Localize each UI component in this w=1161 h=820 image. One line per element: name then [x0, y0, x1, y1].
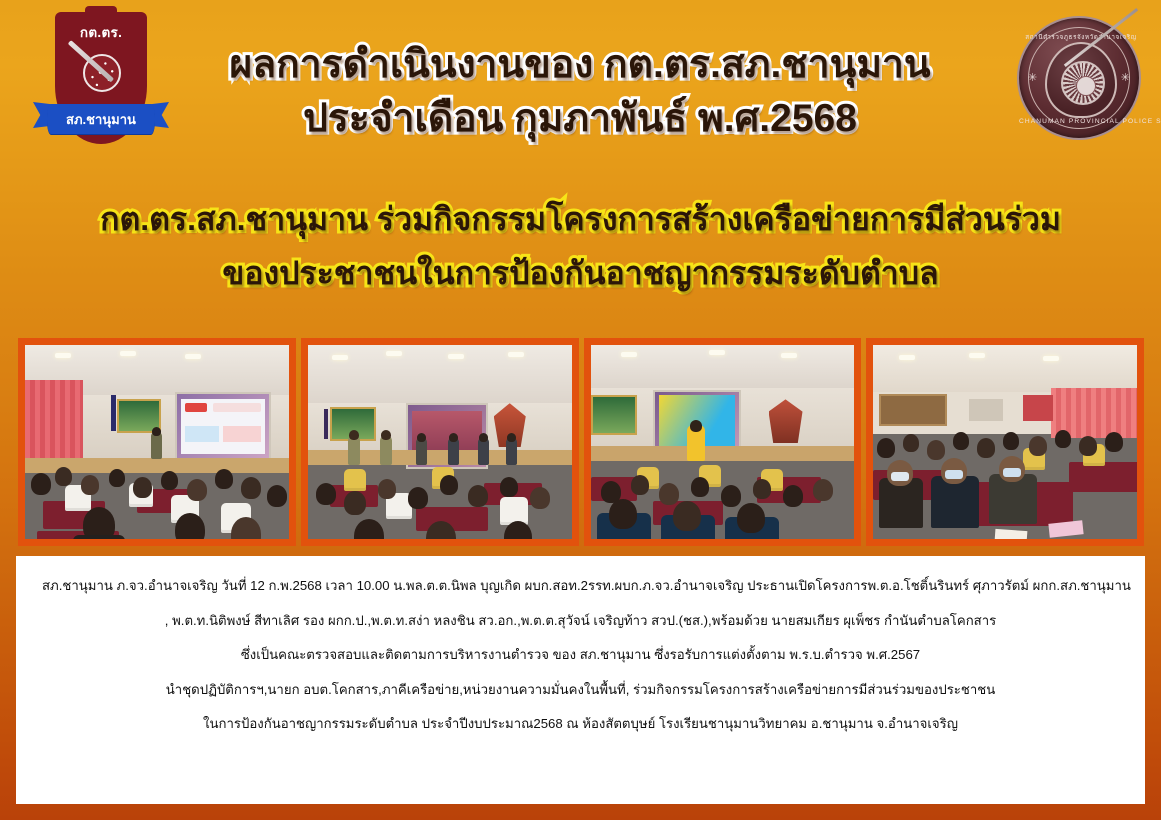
- caption-line-5: ในการป้องกันอาชญากรรมระดับตำบล ประจำปีงบ…: [42, 716, 1119, 733]
- caption-line-1: สภ.ชานุมาน ภ.จว.อำนาจเจริญ วันที่ 12 ก.พ…: [42, 578, 1119, 595]
- magnifier-icon: [73, 42, 129, 100]
- shield-label: กต.ตร.: [55, 21, 147, 43]
- caption-box: สภ.ชานุมาน ภ.จว.อำนาจเจริญ วันที่ 12 ก.พ…: [16, 556, 1145, 804]
- title-line-1: ผลการดำเนินงานของ กต.ตร.สภ.ชานุมาน: [180, 38, 980, 92]
- photo-3-image: [591, 345, 855, 539]
- seal-bottom-text: CHANUMAN PROVINCIAL POLICE STATION: [1019, 118, 1143, 125]
- seal-emblem: [1045, 42, 1117, 118]
- photo-4-image: [873, 345, 1137, 539]
- chanuman-police-seal-logo: สถานีตำรวจภูธรจังหวัดอำนาจเจริญ ✳ ✳ CHAN…: [1017, 16, 1141, 140]
- poster-subtitle: กต.ตร.สภ.ชานุมาน ร่วมกิจกรรมโครงการสร้าง…: [0, 192, 1161, 301]
- caption-line-3: ซึ่งเป็นคณะตรวจสอบและติดตามการบริหารงานต…: [42, 647, 1119, 664]
- ribbon-label: สภ.ชานุมาน: [47, 109, 155, 130]
- seal-star-right-icon: ✳: [1121, 73, 1130, 84]
- seal-top-text: สถานีตำรวจภูธรจังหวัดอำนาจเจริญ: [1019, 32, 1143, 42]
- photo-4: [866, 338, 1144, 546]
- photo-2: [301, 338, 579, 546]
- poster-root: กต.ตร. สภ.ชานุมาน ผลการดำเนินงานของ กต.ต…: [0, 0, 1161, 820]
- photo-1: [18, 338, 296, 546]
- caption-line-2: , พ.ต.ท.นิติพงษ์ สีทาเลิศ รอง ผกก.ป.,พ.ต…: [42, 613, 1119, 630]
- photo-1-image: [25, 345, 289, 539]
- seal-dharma-wheel-icon: [1061, 61, 1105, 105]
- caption-line-4: นำชุดปฏิบัติการฯ,นายก อบต.โคกสาร,ภาคีเคร…: [42, 682, 1119, 699]
- subtitle-line-1: กต.ตร.สภ.ชานุมาน ร่วมกิจกรรมโครงการสร้าง…: [0, 192, 1161, 246]
- subtitle-line-2: ของประชาชนในการป้องกันอาชญากรรมระดับตำบล: [0, 246, 1161, 300]
- photo-2-image: [308, 345, 572, 539]
- kor-tor-tor-shield-logo: กต.ตร. สภ.ชานุมาน: [33, 12, 169, 164]
- title-line-2: ประจำเดือน กุมภาพันธ์ พ.ศ.2568: [180, 92, 980, 146]
- photo-3: [584, 338, 862, 546]
- seal-star-left-icon: ✳: [1028, 73, 1037, 84]
- shield-ribbon: สภ.ชานุมาน: [33, 100, 169, 144]
- photo-strip: [18, 338, 1144, 546]
- seal-outer-ring: สถานีตำรวจภูธรจังหวัดอำนาจเจริญ ✳ ✳ CHAN…: [1017, 16, 1141, 140]
- poster-title: ผลการดำเนินงานของ กต.ตร.สภ.ชานุมาน ประจำ…: [180, 38, 980, 146]
- poster-header: กต.ตร. สภ.ชานุมาน ผลการดำเนินงานของ กต.ต…: [0, 0, 1161, 190]
